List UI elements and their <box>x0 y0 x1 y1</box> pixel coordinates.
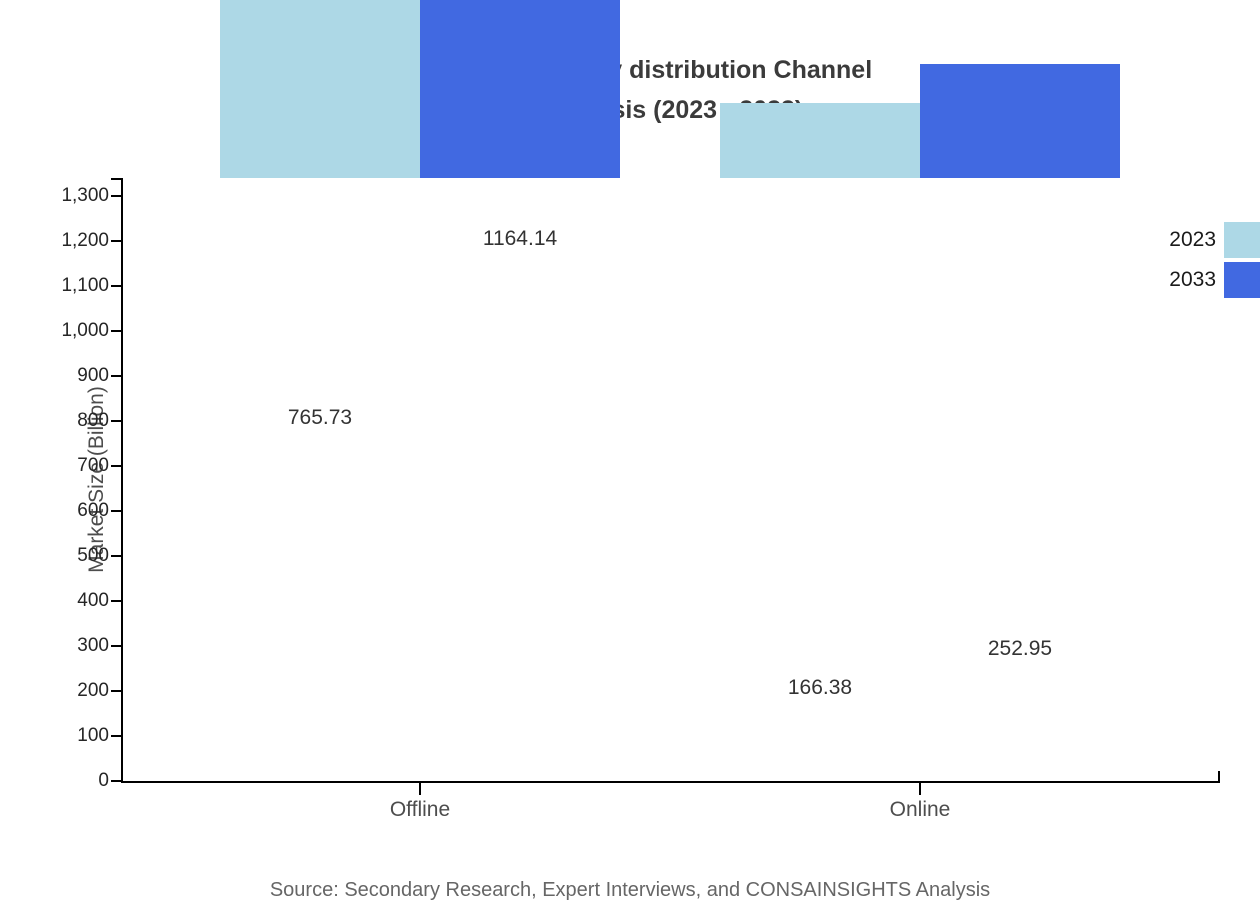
y-axis-top-cap <box>111 178 121 180</box>
y-tick-mark <box>111 420 121 422</box>
x-axis-end-cap <box>1218 771 1220 783</box>
legend-swatch-2033 <box>1224 262 1260 298</box>
legend-label-2033: 2033 <box>1130 269 1216 291</box>
y-tick-label: 900 <box>77 366 109 385</box>
y-tick-label: 1,300 <box>61 186 109 205</box>
y-tick-label: 400 <box>77 591 109 610</box>
y-tick-mark <box>111 780 121 782</box>
y-tick-mark <box>111 195 121 197</box>
y-tick-mark <box>111 690 121 692</box>
legend-item-2033[interactable]: 2033 <box>1130 262 1260 298</box>
y-tick-label: 600 <box>77 501 109 520</box>
chart-figure: Tobacco Market, By distribution Channel … <box>0 0 1260 920</box>
y-tick-mark <box>111 285 121 287</box>
x-tick-mark <box>919 783 921 795</box>
y-tick-mark <box>111 375 121 377</box>
bar-value-label-online-2023: 166.38 <box>788 677 852 699</box>
bar-offline-2033[interactable] <box>420 0 620 178</box>
bar-online-2033[interactable] <box>920 64 1120 178</box>
legend-item-2023[interactable]: 2023 <box>1130 222 1260 258</box>
y-tick-label: 200 <box>77 681 109 700</box>
plot-area: Market Size (Billion) 010020030040050060… <box>121 178 1220 781</box>
y-tick-mark <box>111 465 121 467</box>
y-tick-mark <box>111 330 121 332</box>
y-tick-label: 1,000 <box>61 321 109 340</box>
y-tick-label: 100 <box>77 726 109 745</box>
x-tick-mark <box>419 783 421 795</box>
bar-online-2023[interactable] <box>720 103 920 178</box>
y-tick-label: 1,100 <box>61 276 109 295</box>
y-tick-mark <box>111 600 121 602</box>
y-tick-label: 300 <box>77 636 109 655</box>
y-tick-mark <box>111 555 121 557</box>
x-tick-label-online: Online <box>890 798 951 822</box>
x-tick-label-offline: Offline <box>390 798 450 822</box>
legend-label-2023: 2023 <box>1130 229 1216 251</box>
chart-legend: 2023 2033 <box>1130 216 1260 312</box>
y-tick-mark <box>111 735 121 737</box>
y-tick-label: 800 <box>77 411 109 430</box>
bar-offline-2023[interactable] <box>220 0 420 178</box>
y-tick-label: 1,200 <box>61 231 109 250</box>
legend-swatch-2023 <box>1224 222 1260 258</box>
bar-value-label-online-2033: 252.95 <box>988 638 1052 660</box>
y-tick-mark <box>111 240 121 242</box>
y-tick-mark <box>111 510 121 512</box>
y-tick-mark <box>111 645 121 647</box>
x-axis-line <box>121 781 1220 783</box>
bar-value-label-offline-2023: 765.73 <box>288 407 352 429</box>
y-tick-label: 0 <box>98 771 109 790</box>
y-tick-label: 500 <box>77 546 109 565</box>
y-tick-label: 700 <box>77 456 109 475</box>
bar-value-label-offline-2033: 1164.14 <box>483 228 557 250</box>
y-axis-line <box>121 178 123 781</box>
source-note: Source: Secondary Research, Expert Inter… <box>0 878 1260 902</box>
